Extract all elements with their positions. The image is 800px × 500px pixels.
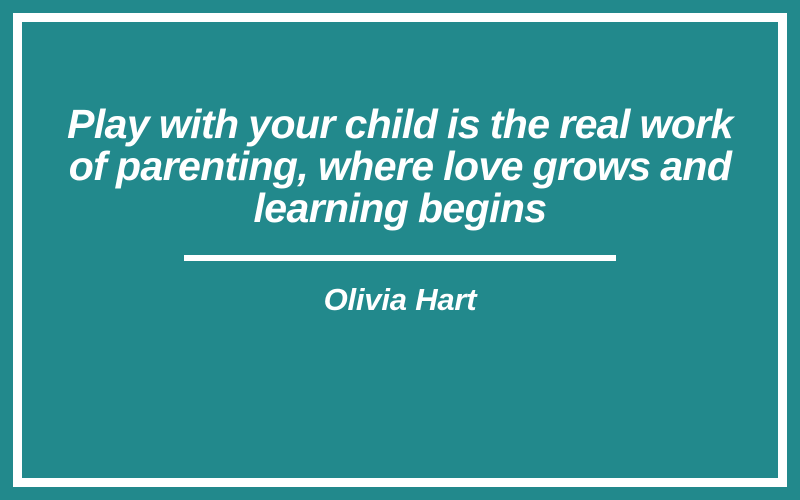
quote-divider	[184, 255, 616, 261]
quote-card: Play with your child is the real work of…	[0, 0, 800, 500]
quote-text: Play with your child is the real work of…	[50, 103, 750, 229]
quote-author-name: Olivia Hart	[324, 282, 477, 318]
card-content: Play with your child is the real work of…	[0, 0, 800, 500]
